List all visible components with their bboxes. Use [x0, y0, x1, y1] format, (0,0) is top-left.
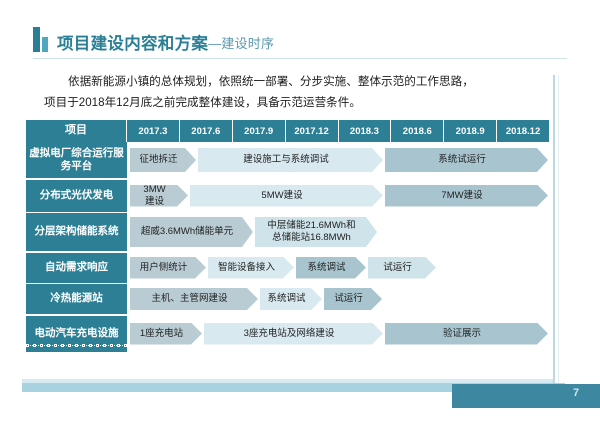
task-arrow[interactable]: 试运行 [368, 257, 436, 279]
task-arrow[interactable]: 征地拆迁 [130, 148, 196, 172]
row-timeline-lane: 用户侧统计智能设备接入系统调试试运行 [127, 253, 549, 283]
header-periods: 2017.32017.62017.92017.122018.32018.6201… [127, 120, 549, 142]
table-row[interactable]: 自动需求响应用户侧统计智能设备接入系统调试试运行 [26, 253, 549, 283]
table-row[interactable]: 分层架构储能系统超威3.6MWh储能单元中层储能21.6MWh和总储能站16.8… [26, 213, 549, 251]
table-header-row: 项目 2017.32017.62017.92017.122018.32018.6… [26, 120, 549, 142]
header-period-7: 2018.9 [443, 120, 496, 142]
task-arrow[interactable]: 验证展示 [385, 323, 548, 345]
title-divider [33, 58, 567, 59]
task-arrow[interactable]: 5MW建设 [190, 185, 383, 207]
task-arrow[interactable]: 系统试运行 [385, 148, 548, 172]
title-sub-text: —建设时序 [208, 33, 274, 52]
row-label-cell[interactable]: 分层架构储能系统 [26, 213, 127, 251]
table-row[interactable]: 虚拟电厂综合运行服务平台征地拆迁建设施工与系统调试系统试运行 [26, 142, 549, 178]
slide-canvas: 项目建设内容和方案 —建设时序 依据新能源小镇的总体规划，依照统一部署、分步实施… [0, 0, 600, 423]
header-period-3: 2017.9 [232, 120, 285, 142]
gantt-table: 项目 2017.32017.62017.92017.122018.32018.6… [26, 120, 549, 352]
row-label-cell[interactable]: 冷热能源站 [26, 284, 127, 314]
task-arrow[interactable]: 智能设备接入 [208, 257, 294, 279]
task-arrow[interactable]: 超威3.6MWh储能单元 [130, 217, 253, 247]
task-arrow[interactable]: 中层储能21.6MWh和总储能站16.8MWh [255, 217, 377, 247]
task-arrow[interactable]: 3座充电站及网络建设 [204, 323, 383, 345]
row-label-cell[interactable]: 虚拟电厂综合运行服务平台 [26, 142, 127, 178]
task-arrow[interactable]: 1座充电站 [130, 323, 202, 345]
body-paragraph: 依据新能源小镇的总体规划，依照统一部署、分步实施、整体示范的工作思路， 项目于2… [44, 71, 544, 114]
bar-chart-icon [33, 27, 48, 52]
row-label-cell[interactable]: 电动汽车充电设施 [26, 316, 127, 352]
table-row[interactable]: 冷热能源站主机、主管网建设系统调试试运行 [26, 284, 549, 314]
header-period-1: 2017.3 [127, 120, 179, 142]
title-main-text: 项目建设内容和方案 [57, 36, 208, 53]
page-number: 7 [573, 387, 579, 399]
table-body: 虚拟电厂综合运行服务平台征地拆迁建设施工与系统调试系统试运行分布式光伏发电3MW… [26, 142, 549, 352]
table-row[interactable]: 分布式光伏发电3MW建设5MW建设7MW建设 [26, 180, 549, 212]
page-title: 项目建设内容和方案 —建设时序 [33, 27, 274, 52]
header-period-6: 2018.6 [390, 120, 443, 142]
row-timeline-lane: 征地拆迁建设施工与系统调试系统试运行 [127, 142, 549, 178]
header-period-8: 2018.12 [496, 120, 549, 142]
task-arrow[interactable]: 试运行 [324, 288, 382, 310]
task-arrow[interactable]: 7MW建设 [385, 185, 548, 207]
task-arrow[interactable]: 主机、主管网建设 [130, 288, 258, 310]
header-label-cell: 项目 [26, 120, 127, 142]
header-period-2: 2017.6 [179, 120, 232, 142]
row-label-cell[interactable]: 分布式光伏发电 [26, 180, 127, 212]
paragraph-line-2: 项目于2018年12月底之前完成整体建设，具备示范运营条件。 [44, 96, 361, 109]
task-arrow[interactable]: 建设施工与系统调试 [198, 148, 383, 172]
header-period-5: 2018.3 [338, 120, 391, 142]
row-timeline-lane: 超威3.6MWh储能单元中层储能21.6MWh和总储能站16.8MWh [127, 213, 549, 251]
row-timeline-lane: 1座充电站3座充电站及网络建设验证展示 [127, 316, 549, 352]
task-arrow[interactable]: 3MW建设 [130, 185, 188, 207]
table-row[interactable]: 电动汽车充电设施1座充电站3座充电站及网络建设验证展示 [26, 316, 549, 352]
paragraph-line-1: 依据新能源小镇的总体规划，依照统一部署、分步实施、整体示范的工作思路， [68, 75, 474, 88]
task-arrow[interactable]: 系统调试 [260, 288, 322, 310]
task-arrow[interactable]: 系统调试 [296, 257, 366, 279]
right-accent-line-thin [558, 75, 559, 383]
row-label-cell[interactable]: 自动需求响应 [26, 253, 127, 283]
task-arrow[interactable]: 用户侧统计 [130, 257, 206, 279]
row-timeline-lane: 3MW建设5MW建设7MW建设 [127, 180, 549, 212]
right-accent-line [553, 75, 555, 383]
row-timeline-lane: 主机、主管网建设系统调试试运行 [127, 284, 549, 314]
header-period-4: 2017.12 [285, 120, 338, 142]
